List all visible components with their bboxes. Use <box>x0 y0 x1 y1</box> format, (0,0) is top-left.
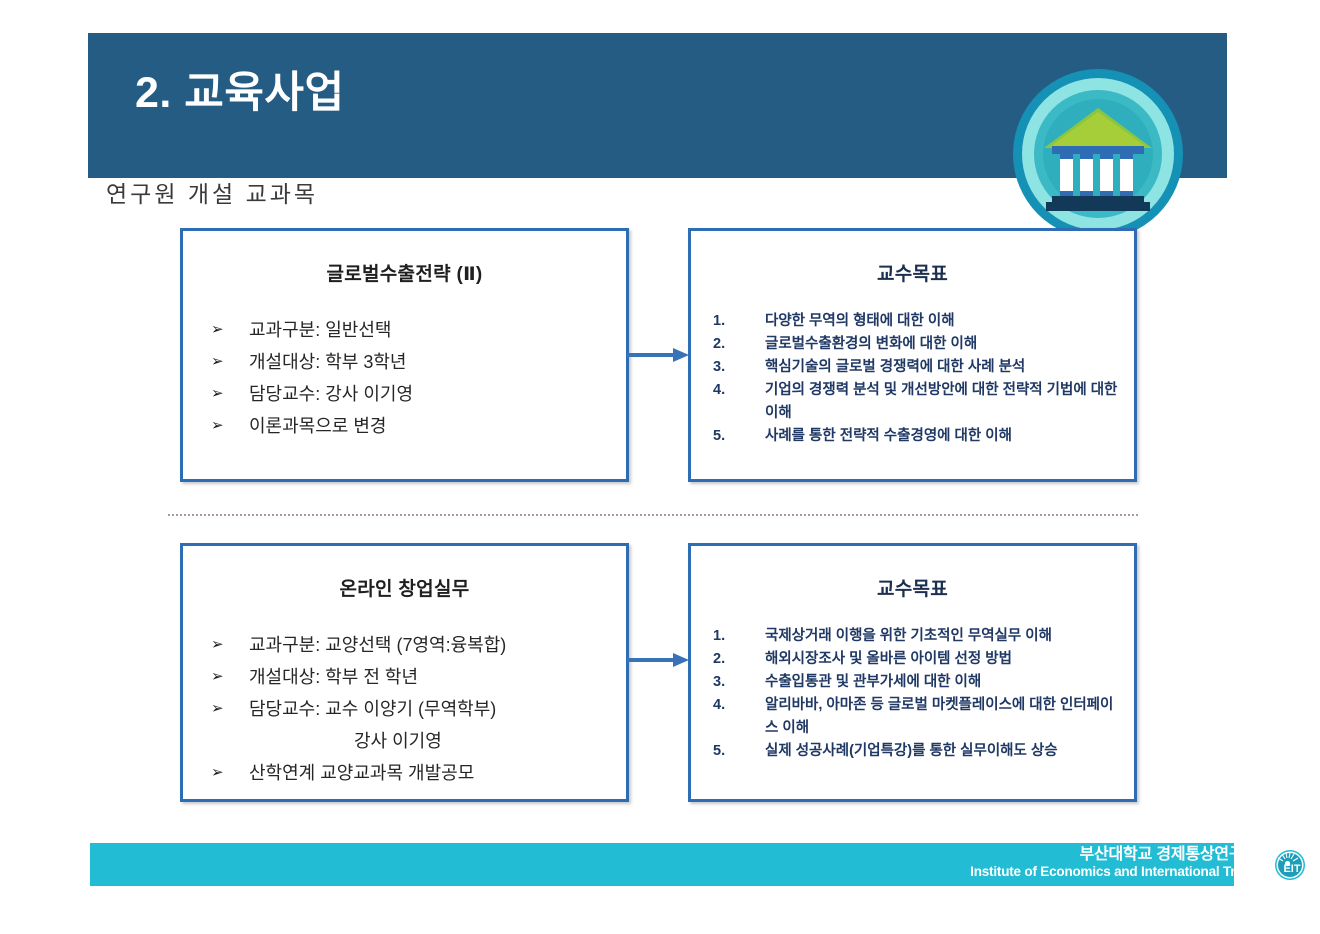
arrow-bullet-icon: ➢ <box>211 378 224 410</box>
list-item: 2. 글로벌수출환경의 변화에 대한 이해 <box>713 333 1134 356</box>
arrow-bullet-icon: ➢ <box>211 314 224 346</box>
course-title-2: 온라인 창업실무 <box>183 574 626 601</box>
course-bullet-list-2b: ➢ 산학연계 교양교과목 개발공모 <box>209 757 626 789</box>
page-title: 2. 교육사업 <box>135 72 345 115</box>
arrow-bullet-icon: ➢ <box>211 346 224 378</box>
course-title-1: 글로벌수출전략 (Ⅱ) <box>183 259 626 286</box>
list-item-label: 기업의 경쟁력 분석 및 개선방안에 대한 전략적 기법에 대한 이해 <box>765 382 1117 421</box>
list-item: ➢ 교과구분: 일반선택 <box>209 314 626 346</box>
list-number: 2. <box>713 333 725 356</box>
list-item-label: 글로벌수출환경의 변화에 대한 이해 <box>765 336 977 352</box>
continuation-label: 강사 이기영 <box>249 725 442 757</box>
list-item: ➢ 개설대상: 학부 3학년 <box>209 346 626 378</box>
arrow-bullet-icon: ➢ <box>211 693 224 725</box>
list-item: 1. 국제상거래 이행을 위한 기초적인 무역실무 이해 <box>713 625 1134 648</box>
course-info-box-2: 온라인 창업실무 ➢ 교과구분: 교양선택 (7영역:융복합) ➢ 개설대상: … <box>180 543 629 802</box>
slide-canvas: 2. 교육사업 연구원 개설 교과목 글 <box>0 0 1320 934</box>
list-item: 5. 실제 성공사례(기업특강)를 통한 실무이해도 상승 <box>713 740 1134 763</box>
course-info-box-1: 글로벌수출전략 (Ⅱ) ➢ 교과구분: 일반선택 ➢ 개설대상: 학부 3학년 … <box>180 228 629 482</box>
course-goal-box-1: 교수목표 1. 다양한 무역의 형태에 대한 이해 2. 글로벌수출환경의 변화… <box>688 228 1137 482</box>
list-item-label: 산학연계 교양교과목 개발공모 <box>249 763 474 783</box>
list-item: 3. 수출입통관 및 관부가세에 대한 이해 <box>713 671 1134 694</box>
list-item-label: 실제 성공사례(기업특강)를 통한 실무이해도 상승 <box>765 743 1058 759</box>
list-item-label: 교과구분: 교양선택 (7영역:융복합) <box>249 635 506 655</box>
list-item-label: 담당교수: 교수 이양기 (무역학부) <box>249 699 496 719</box>
list-item-label: 핵심기술의 글로벌 경쟁력에 대한 사례 분석 <box>765 359 1025 375</box>
list-number: 3. <box>713 356 725 379</box>
list-item: ➢ 교과구분: 교양선택 (7영역:융복합) <box>209 629 626 661</box>
list-item-label: 국제상거래 이행을 위한 기초적인 무역실무 이해 <box>765 628 1052 644</box>
bank-building-icon <box>1012 68 1184 240</box>
list-item-label: 개설대상: 학부 전 학년 <box>249 667 418 687</box>
list-number: 4. <box>713 694 725 717</box>
list-number: 2. <box>713 648 725 671</box>
section-divider <box>168 514 1138 516</box>
arrow-bullet-icon: ➢ <box>211 757 224 789</box>
ieit-emblem-icon: EIT <box>1272 847 1308 883</box>
arrow-bullet-icon: ➢ <box>211 410 224 442</box>
footer-english-name: Institute of Economics and International… <box>970 864 1258 880</box>
list-item: 1. 다양한 무역의 형태에 대한 이해 <box>713 310 1134 333</box>
list-number: 5. <box>713 425 725 448</box>
list-item-label: 담당교수: 강사 이기영 <box>249 384 413 404</box>
course-goal-box-2: 교수목표 1. 국제상거래 이행을 위한 기초적인 무역실무 이해 2. 해외시… <box>688 543 1137 802</box>
footer-institution-name: 부산대학교 경제통상연구원 Institute of Economics and… <box>970 846 1258 880</box>
list-item-label: 교과구분: 일반선택 <box>249 320 391 340</box>
list-item: ➢ 개설대상: 학부 전 학년 <box>209 661 626 693</box>
list-item: 5. 사례를 통한 전략적 수출경영에 대한 이해 <box>713 425 1134 448</box>
list-number: 3. <box>713 671 725 694</box>
list-item-label: 수출입통관 및 관부가세에 대한 이해 <box>765 674 981 690</box>
list-item-label: 개설대상: 학부 3학년 <box>249 352 407 372</box>
footer-korean-name: 부산대학교 경제통상연구원 <box>970 846 1258 864</box>
course-bullet-list-2: ➢ 교과구분: 교양선택 (7영역:융복합) ➢ 개설대상: 학부 전 학년 ➢… <box>209 629 626 725</box>
list-item: 4. 기업의 경쟁력 분석 및 개선방안에 대한 전략적 기법에 대한 이해 <box>713 379 1134 425</box>
goal-title-2: 교수목표 <box>691 574 1134 601</box>
list-item-label: 사례를 통한 전략적 수출경영에 대한 이해 <box>765 428 1012 444</box>
list-number: 1. <box>713 625 725 648</box>
goal-title-1: 교수목표 <box>691 259 1134 286</box>
list-item: ➢ 산학연계 교양교과목 개발공모 <box>209 757 626 789</box>
course-bullet-list-1: ➢ 교과구분: 일반선택 ➢ 개설대상: 학부 3학년 ➢ 담당교수: 강사 이… <box>209 314 626 442</box>
arrow-bullet-icon: ➢ <box>211 629 224 661</box>
list-item-label: 이론과목으로 변경 <box>249 416 386 436</box>
list-item: 3. 핵심기술의 글로벌 경쟁력에 대한 사례 분석 <box>713 356 1134 379</box>
svg-text:EIT: EIT <box>1283 863 1300 875</box>
list-item: ➢ 이론과목으로 변경 <box>209 410 626 442</box>
connector-arrow-1 <box>627 348 689 362</box>
list-item: ➢ 담당교수: 교수 이양기 (무역학부) <box>209 693 626 725</box>
course-continuation-line-2: 강사 이기영 <box>209 725 626 757</box>
list-item-label: 해외시장조사 및 올바른 아이템 선정 방법 <box>765 651 1012 667</box>
page-subtitle: 연구원 개설 교과목 <box>106 175 318 209</box>
list-number: 4. <box>713 379 725 402</box>
list-item: 4. 알리바바, 아마존 등 글로벌 마켓플레이스에 대한 인터페이스 이해 <box>713 694 1134 740</box>
goal-list-1: 1. 다양한 무역의 형태에 대한 이해 2. 글로벌수출환경의 변화에 대한 … <box>713 310 1134 448</box>
list-item: 2. 해외시장조사 및 올바른 아이템 선정 방법 <box>713 648 1134 671</box>
goal-list-2: 1. 국제상거래 이행을 위한 기초적인 무역실무 이해 2. 해외시장조사 및… <box>713 625 1134 763</box>
list-item-label: 알리바바, 아마존 등 글로벌 마켓플레이스에 대한 인터페이스 이해 <box>765 697 1113 736</box>
connector-arrow-2 <box>627 653 689 667</box>
list-number: 5. <box>713 740 725 763</box>
arrow-bullet-icon: ➢ <box>211 661 224 693</box>
list-item: ➢ 담당교수: 강사 이기영 <box>209 378 626 410</box>
list-item-label: 다양한 무역의 형태에 대한 이해 <box>765 313 955 329</box>
list-number: 1. <box>713 310 725 333</box>
